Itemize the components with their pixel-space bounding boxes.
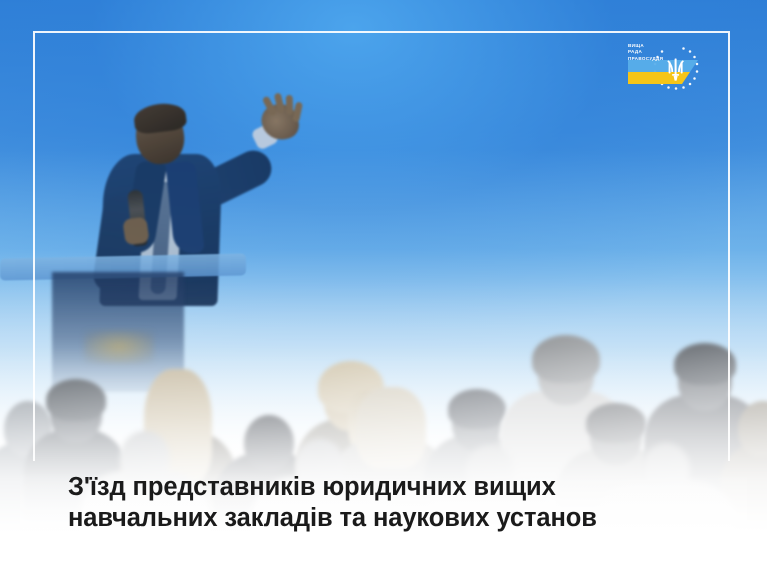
audience-silhouettes	[0, 281, 767, 581]
ukrainian-flag-banner	[628, 60, 698, 84]
logo-text-block: ВИЩА РАДА ПРАВОСУДДЯ	[628, 43, 663, 62]
event-title: З'їзд представників юридичних вищих навч…	[68, 472, 708, 534]
event-title-line-2: навчальних закладів та наукових установ	[68, 503, 708, 534]
speaker-hand-holding-mic	[122, 216, 149, 245]
banner-root: ВИЩА РАДА ПРАВОСУДДЯ З'їзд представників…	[0, 0, 767, 581]
high-council-of-justice-logo[interactable]: ВИЩА РАДА ПРАВОСУДДЯ	[620, 38, 706, 114]
speaker-finger	[292, 101, 303, 122]
event-title-line-1: З'їзд представників юридичних вищих	[68, 472, 708, 503]
logo-text-line-3: ПРАВОСУДДЯ	[628, 56, 663, 62]
speaker-finger	[286, 95, 294, 115]
